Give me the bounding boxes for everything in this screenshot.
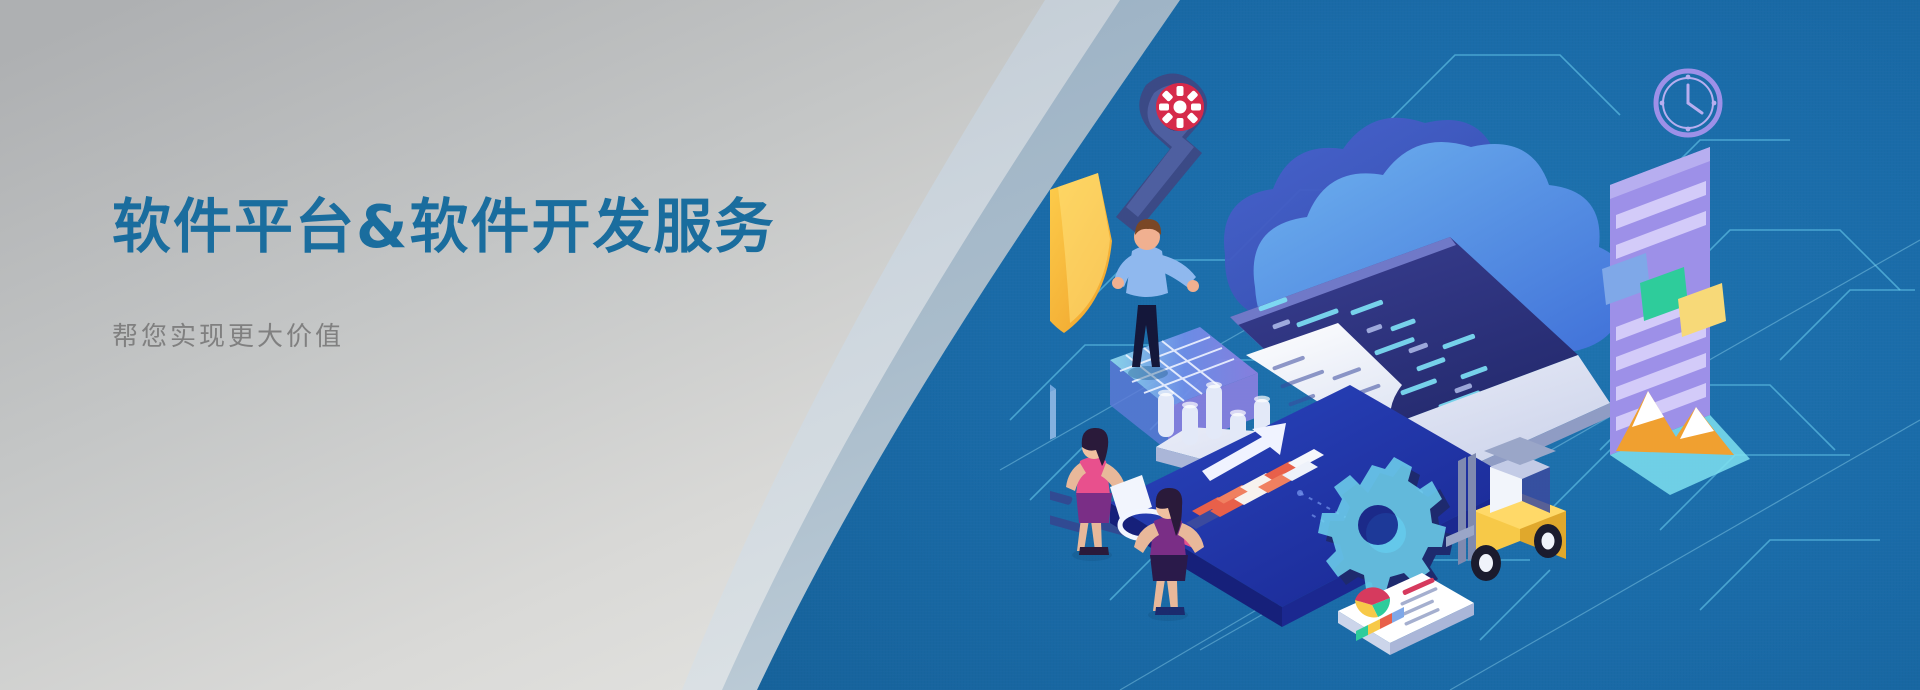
isometric-illustration bbox=[1050, 55, 1920, 675]
hero-copy: 软件平台&软件开发服务 帮您实现更大价值 bbox=[112, 195, 872, 355]
yellow-forklift bbox=[1446, 437, 1566, 581]
document-list-panel bbox=[1602, 147, 1726, 455]
hero-banner: 软件平台&软件开发服务 帮您实现更大价值 bbox=[0, 0, 1920, 690]
wall-clock-icon bbox=[1656, 71, 1720, 135]
page-title: 软件平台&软件开发服务 bbox=[112, 195, 872, 259]
page-subtitle: 帮您实现更大价值 bbox=[112, 321, 872, 355]
